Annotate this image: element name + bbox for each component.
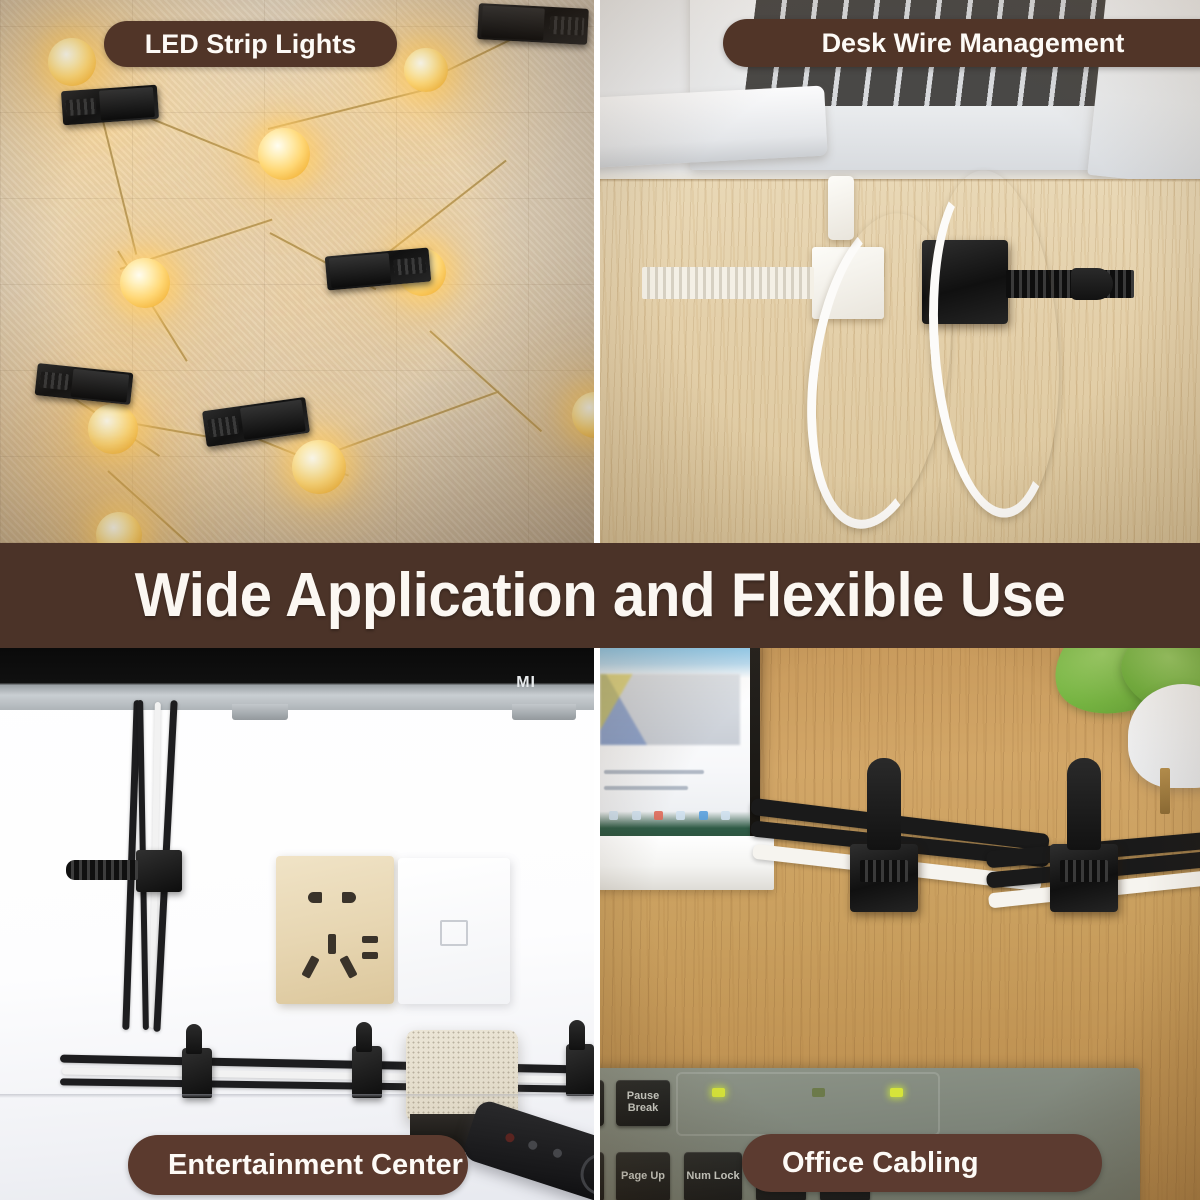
panel-desk-wire-management (600, 0, 1200, 543)
panel-led-strip-lights (0, 0, 594, 543)
panel-vignette (600, 648, 1200, 1200)
caption-label: Office Cabling (782, 1147, 979, 1180)
caption-label: Entertainment Center (168, 1149, 463, 1182)
center-banner: Wide Application and Flexible Use (0, 543, 1200, 648)
tv-bottom-bezel (0, 648, 594, 710)
tv-brand-logo: MI (516, 674, 536, 692)
network-wall-plate[interactable] (398, 858, 510, 1004)
caption-label: Desk Wire Management (822, 28, 1125, 59)
cable-clip-shelf (566, 1044, 594, 1096)
shelf-edge (0, 1094, 594, 1098)
banner-headline: Wide Application and Flexible Use (135, 565, 1066, 627)
tv-stand-foot (512, 704, 576, 720)
product-feature-poster: MI (0, 0, 1200, 1200)
cable-clip-shelf (182, 1048, 212, 1098)
panel-office-cabling: Pause Break Page Up Num Lock (600, 648, 1200, 1200)
wall-vignette (0, 0, 594, 543)
caption-label: LED Strip Lights (145, 29, 357, 60)
cable-clip-shelf (352, 1046, 382, 1098)
caption-desk-wire-management: Desk Wire Management (723, 19, 1200, 67)
caption-led-strip-lights: LED Strip Lights (104, 21, 397, 67)
panel-entertainment-center: MI (0, 648, 594, 1200)
power-outlet[interactable] (276, 856, 394, 1004)
caption-office-cabling: Office Cabling (742, 1134, 1102, 1192)
caption-entertainment-center: Entertainment Center (128, 1135, 468, 1195)
cable-clip-wall (136, 850, 182, 892)
panel-vignette (600, 0, 1200, 543)
tv-stand-foot (232, 704, 288, 720)
